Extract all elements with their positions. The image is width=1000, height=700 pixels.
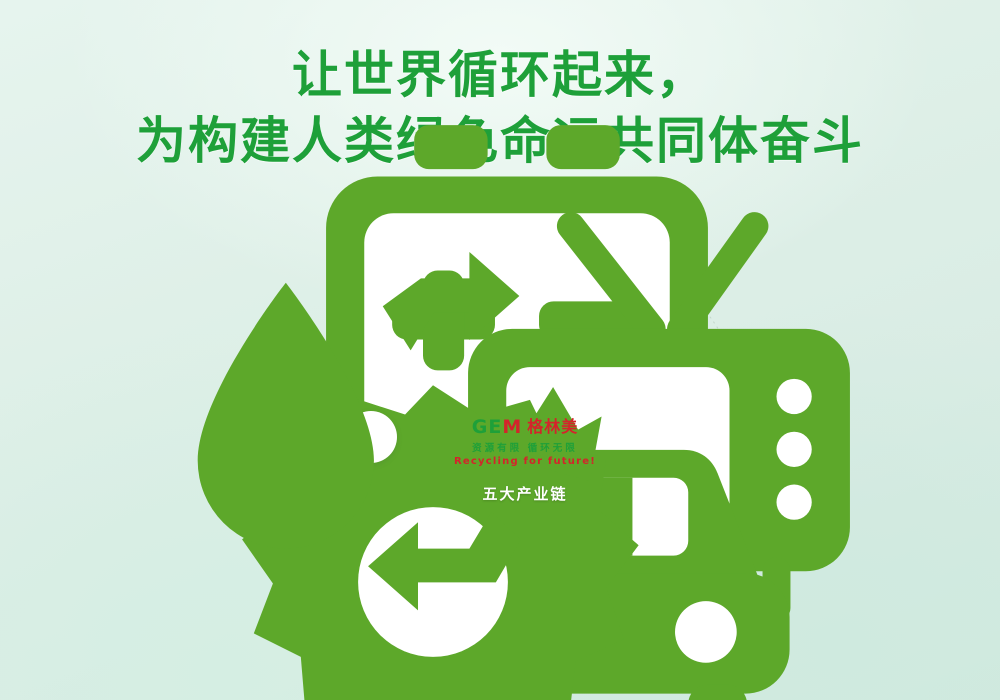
circular-value-chain-diagram: 废品回收 材料再造 金属材料化 新能源材料品 再利用 [290,215,760,685]
infographic-canvas: 让世界循环起来， 为构建人类绿色命运共同体奋斗 [0,0,1000,700]
icon-badge-water-recycle[interactable] [345,411,397,463]
water-recycle-icon [136,202,606,672]
